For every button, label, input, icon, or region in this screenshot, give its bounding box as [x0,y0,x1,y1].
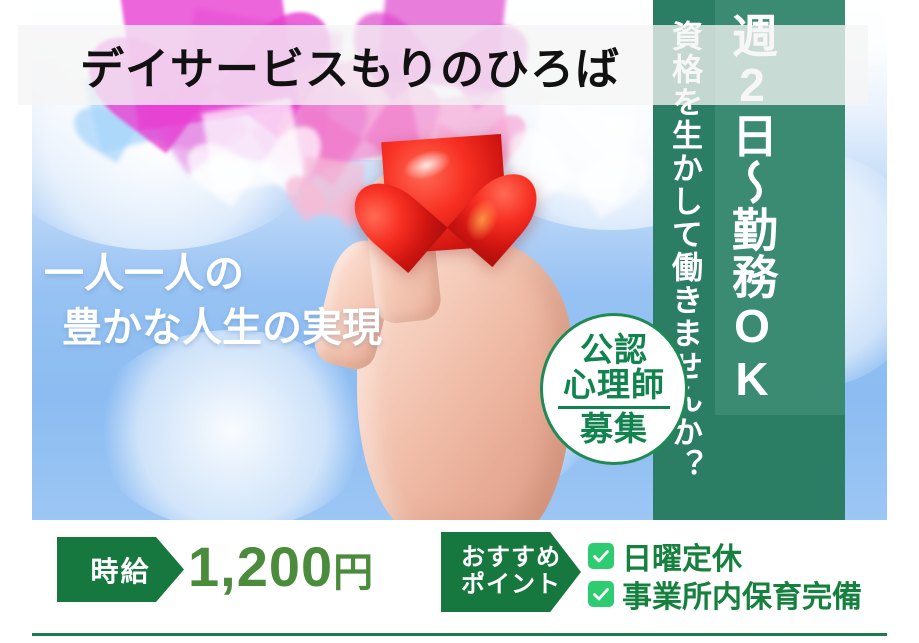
slogan: 一人一人の 豊かな人生の実現 [44,248,382,355]
bottom-info-bar: 時給 1,200円 おすすめ ポイント 日曜定休 事業所内保育完備 [0,520,919,643]
badge-divider [558,406,670,409]
wage-tag: 時給 [57,537,184,602]
badge-line-2: 心理師 [563,367,665,403]
check-icon [588,581,614,607]
badge-line-1: 公認 [580,332,648,368]
heart-decoration-icon [202,98,305,194]
point-item: 事業所内保育完備 [588,575,862,613]
wage-value: 1,200円 [188,536,374,598]
slogan-line-1: 一人一人の [44,248,382,302]
bottom-divider [32,633,887,636]
point-tag-line-1: おすすめ [461,545,561,572]
badge-line-3: 募集 [580,411,648,447]
recommended-point-tag: おすすめ ポイント [441,532,581,612]
point-label: 事業所内保育完備 [622,572,862,616]
wage-tag-label: 時給 [90,550,150,590]
recruitment-badge: 公認 心理師 募集 [540,313,688,465]
check-icon [588,543,614,569]
slogan-line-2: 豊かな人生の実現 [44,302,382,356]
wage-amount: 1,200 [188,535,333,598]
facility-name-title: デイサービスもりのひろば [80,28,660,102]
point-item: 日曜定休 [588,537,862,575]
point-list: 日曜定休 事業所内保育完備 [588,537,862,613]
point-tag-line-2: ポイント [461,572,561,599]
job-ad-banner: 資格を生かして働きませんか？ 週2日～勤務OK デイサービスもりのひろば 一人一… [0,0,919,643]
wage-unit: 円 [333,551,374,595]
